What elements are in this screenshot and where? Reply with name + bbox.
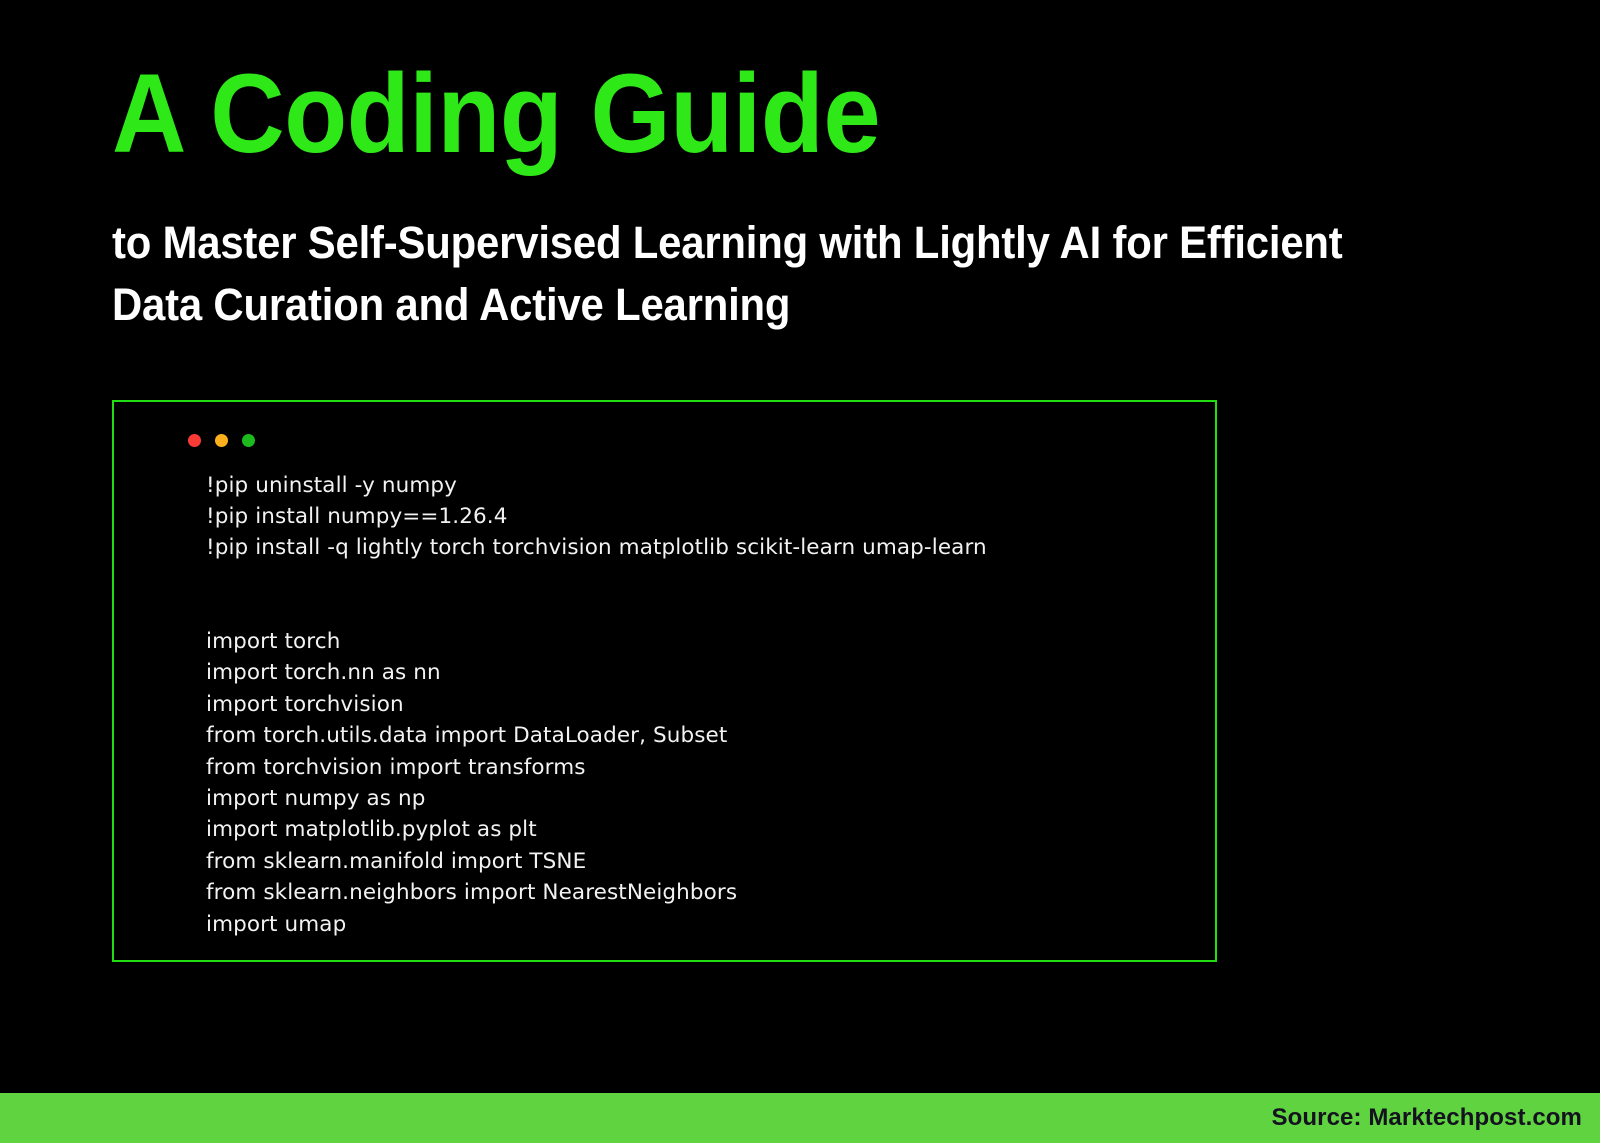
source-attribution: Source: Marktechpost.com: [1272, 1104, 1582, 1132]
code-line: from sklearn.manifold import TSNE: [206, 846, 1195, 877]
close-dot[interactable]: [188, 434, 201, 447]
code-line: !pip install numpy==1.26.4: [206, 501, 1195, 532]
footer-bar: Source: Marktechpost.com: [0, 1093, 1600, 1143]
code-line: import torchvision: [206, 689, 1195, 720]
page-title: A Coding Guide: [112, 58, 1382, 170]
code-line: !pip install -q lightly torch torchvisio…: [206, 532, 1195, 563]
code-line: from torch.utils.data import DataLoader,…: [206, 720, 1195, 751]
code-line: import torch.nn as nn: [206, 657, 1195, 688]
code-line: import matplotlib.pyplot as plt: [206, 814, 1195, 845]
maximize-dot[interactable]: [242, 434, 255, 447]
code-line: import numpy as np: [206, 783, 1195, 814]
code-body[interactable]: !pip uninstall -y numpy !pip install num…: [206, 470, 1195, 940]
code-line: import torch: [206, 626, 1195, 657]
code-group-pip-commands: !pip uninstall -y numpy !pip install num…: [206, 470, 1195, 563]
poster-canvas: A Coding Guide to Master Self-Supervised…: [0, 0, 1600, 1143]
code-line: import umap: [206, 909, 1195, 940]
code-line: from sklearn.neighbors import NearestNei…: [206, 877, 1195, 908]
code-line: from torchvision import transforms: [206, 752, 1195, 783]
code-group-imports: import torch import torch.nn as nn impor…: [206, 626, 1195, 940]
minimize-dot[interactable]: [215, 434, 228, 447]
window-controls: [188, 434, 255, 447]
headline-block: A Coding Guide to Master Self-Supervised…: [112, 58, 1492, 336]
code-line: !pip uninstall -y numpy: [206, 470, 1195, 501]
page-subtitle: to Master Self-Supervised Learning with …: [112, 212, 1377, 336]
code-card: !pip uninstall -y numpy !pip install num…: [112, 400, 1217, 962]
